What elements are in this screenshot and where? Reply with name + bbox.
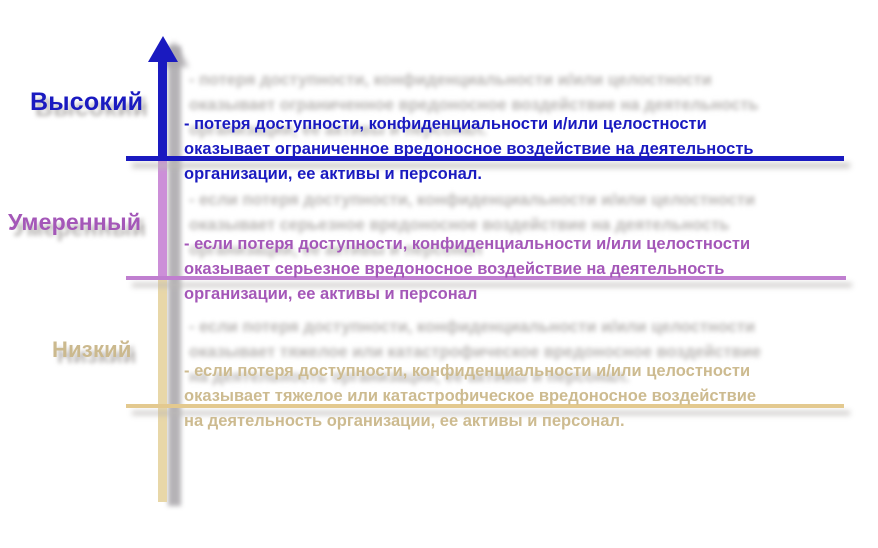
level-label-moderate: Умеренный Умеренный: [8, 209, 141, 236]
axis-segment-high: [158, 52, 167, 162]
level-description-low-text: - если потеря доступности, конфиденциаль…: [184, 359, 878, 434]
impact-level-diagram: Высокий Высокий Умеренный Умеренный Низк…: [0, 0, 878, 548]
level-description-low: - если потеря доступности, конфиденциаль…: [184, 309, 878, 459]
level-label-high: Высокий Высокий: [30, 88, 143, 117]
level-label-moderate-text: Умеренный: [8, 209, 141, 236]
level-label-low: Низкий Низкий: [52, 337, 132, 363]
axis-segment-low: [158, 280, 167, 502]
axis-segment-moderate: [158, 160, 167, 282]
level-label-low-text: Низкий: [52, 337, 132, 363]
level-label-high-text: Высокий: [30, 88, 143, 117]
level-description-moderate-text: - если потеря доступности, конфиденциаль…: [184, 232, 878, 307]
level-description-high-text: - потеря доступности, конфиденциальности…: [184, 112, 878, 187]
